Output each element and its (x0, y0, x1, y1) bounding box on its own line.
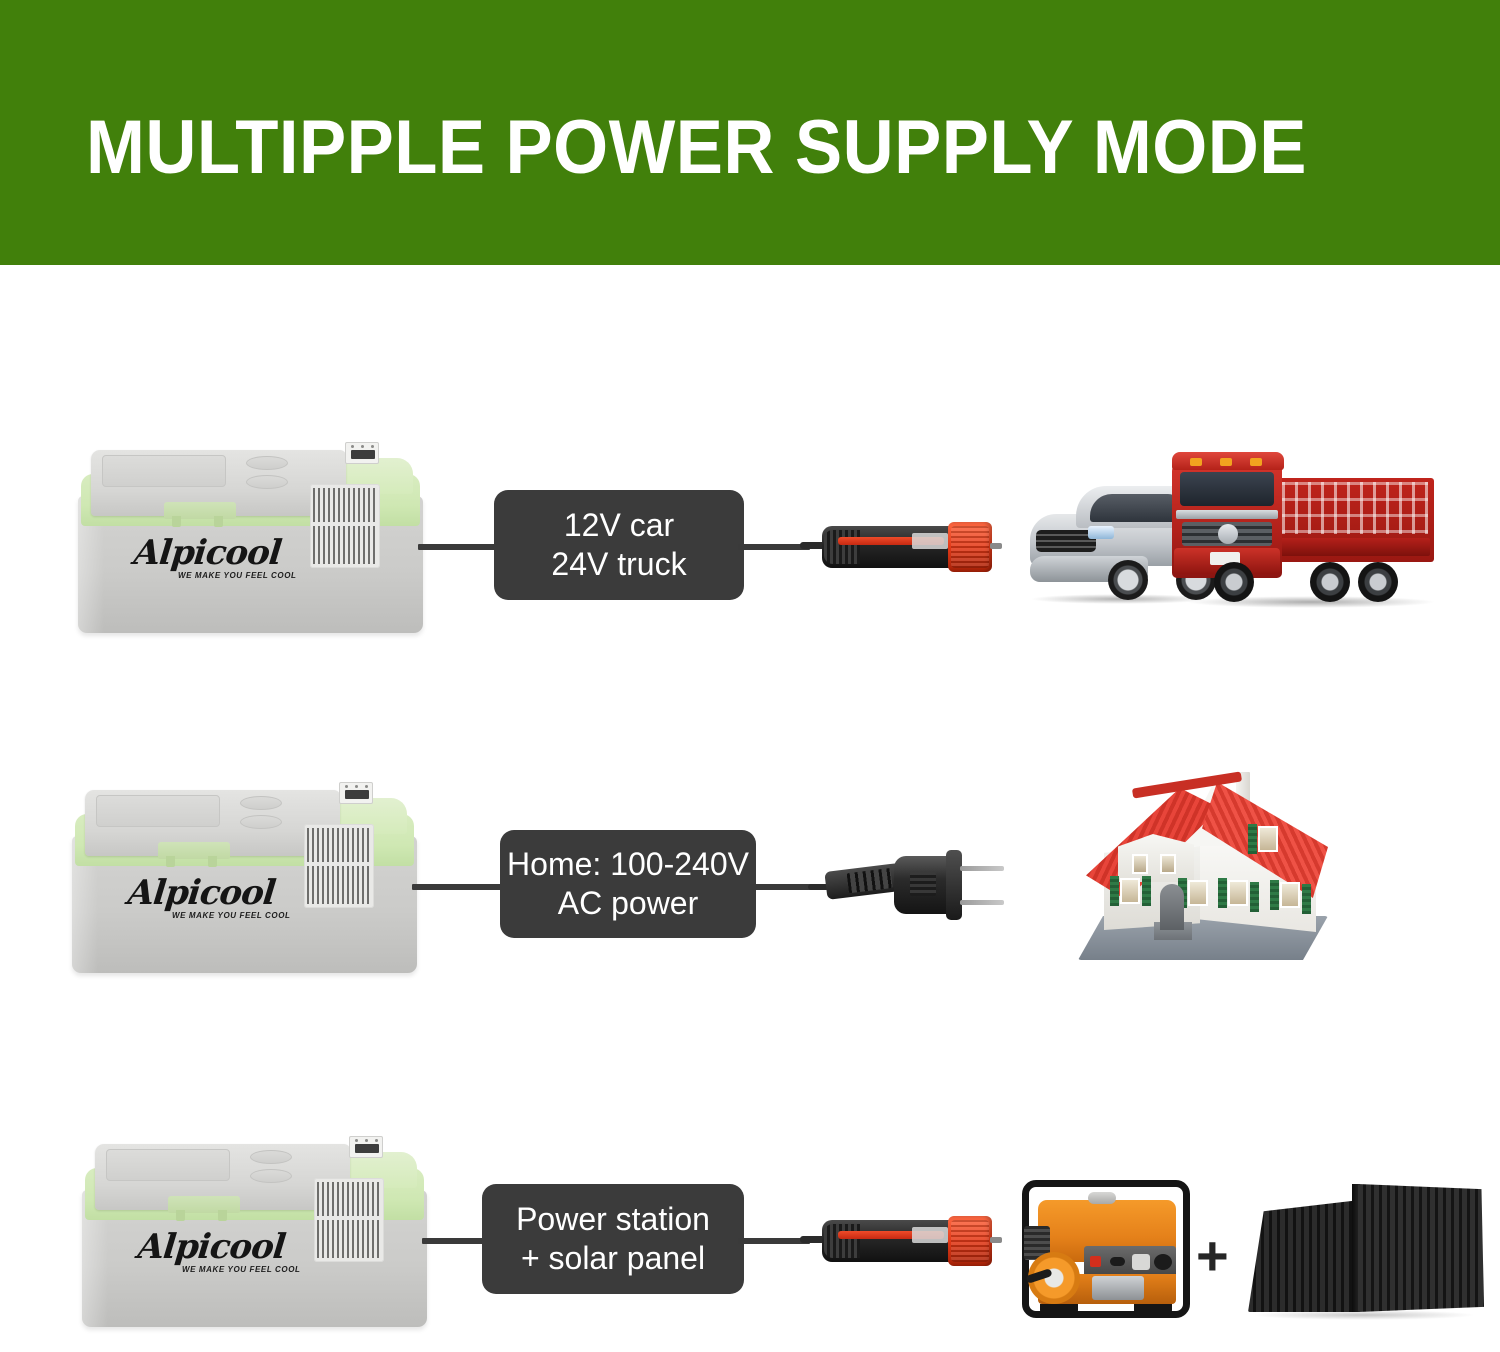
fridge-lid-indent (250, 1169, 292, 1183)
power-mode-row-home: Alpicool WE MAKE YOU FEEL COOL Home: 100… (0, 672, 1500, 1002)
power-mode-label-power-station: Power station + solar panel (482, 1184, 744, 1294)
ac-power-plug-icon (808, 848, 1004, 922)
cargo-truck-icon (1172, 444, 1440, 624)
fridge-lid-panel (102, 455, 226, 487)
power-mode-row-power-station: Alpicool WE MAKE YOU FEEL COOL Power sta… (0, 1022, 1500, 1352)
label-line-1: Power station (516, 1200, 710, 1239)
power-mode-row-car: Alpicool WE MAKE YOU FEEL COOL 12V car 2… (0, 300, 1500, 630)
label-line-1: 12V car (564, 506, 674, 545)
label-line-2: 24V truck (551, 545, 686, 584)
fridge-control-display (349, 1136, 383, 1158)
car-cigarette-lighter-plug-icon (800, 1210, 1000, 1272)
brand-logo: Alpicool WE MAKE YOU FEEL COOL (138, 1230, 328, 1274)
house-icon (1062, 758, 1342, 978)
portable-generator-icon (1022, 1174, 1192, 1324)
fridge-lid-indent (250, 1150, 292, 1164)
power-cable-left (422, 1238, 488, 1244)
brand-logo: Alpicool WE MAKE YOU FEEL COOL (128, 876, 318, 920)
folding-solar-panel-icon (1248, 1182, 1484, 1314)
vehicle-icons (1022, 430, 1442, 640)
fridge-lid-panel (96, 795, 220, 827)
fridge-lid-indent (246, 456, 288, 470)
page-title: MULTIPPLE POWER SUPPLY MODE (86, 104, 1307, 191)
fridge-lid-indent (240, 796, 282, 810)
fridge-latch-handle (164, 502, 236, 519)
plus-separator-icon: + (1196, 1228, 1229, 1284)
fridge-lid (91, 450, 346, 516)
header-banner: MULTIPPLE POWER SUPPLY MODE (0, 0, 1500, 265)
brand-name: Alpicool (126, 876, 277, 910)
fridge-lid (95, 1144, 350, 1210)
power-cable-left (412, 884, 510, 890)
car-cigarette-lighter-plug-icon (800, 516, 1000, 578)
brand-name: Alpicool (132, 536, 283, 570)
fridge-control-display (339, 782, 373, 804)
fridge-control-display (345, 442, 379, 464)
portable-fridge: Alpicool WE MAKE YOU FEEL COOL (72, 776, 417, 976)
power-mode-label-car: 12V car 24V truck (494, 490, 744, 600)
label-line-2: AC power (558, 884, 699, 923)
portable-fridge: Alpicool WE MAKE YOU FEEL COOL (82, 1130, 427, 1330)
fridge-lid-indent (240, 815, 282, 829)
label-line-1: Home: 100-240V (507, 845, 749, 884)
brand-name: Alpicool (136, 1230, 287, 1264)
fridge-lid-panel (106, 1149, 230, 1181)
power-mode-label-home: Home: 100-240V AC power (500, 830, 756, 938)
fridge-lid (85, 790, 340, 856)
label-line-2: + solar panel (521, 1239, 705, 1278)
fridge-latch-handle (158, 842, 230, 859)
portable-fridge: Alpicool WE MAKE YOU FEEL COOL (78, 436, 423, 636)
fridge-latch-handle (168, 1196, 240, 1213)
brand-logo: Alpicool WE MAKE YOU FEEL COOL (134, 536, 324, 580)
fridge-lid-indent (246, 475, 288, 489)
